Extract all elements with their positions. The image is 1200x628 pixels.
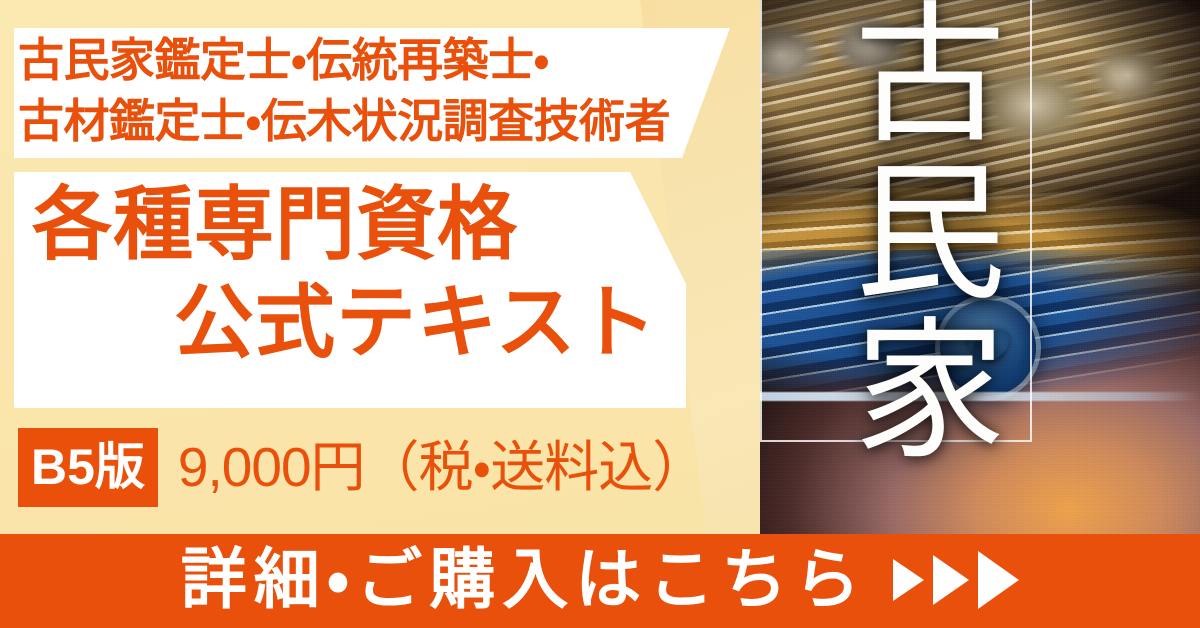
price-row: B5版 9,000円（税・送料込） [18,428,706,507]
promo-banner: 伝統構法 古民家活用のための調査と再生の 古民家 古民家鑑定士・伝統再築士・ 古… [0,0,1200,628]
cta-arrows [893,551,1019,609]
headline-line-1: 各種専門資格 [14,176,690,274]
headline-line-2: 公式テキスト [14,274,690,372]
chevron-right-icon-medium [933,555,969,605]
chevron-right-icon-large [978,551,1019,609]
price-text: 9,000円（税・送料込） [178,440,706,495]
cta-label: 詳細・ご購入はこちら [181,546,867,612]
cover-title: 古民家 [786,0,996,468]
cta-bar[interactable]: 詳細・ご購入はこちら [0,534,1200,628]
qualification-line-2: 古材鑑定士・伝木状況調査技術者 [18,91,728,152]
chevron-right-icon-small [893,559,924,601]
page-title: 各種専門資格 公式テキスト [14,176,690,371]
format-badge: B5版 [18,428,158,507]
qualifications-list: 古民家鑑定士・伝統再築士・ 古材鑑定士・伝木状況調査技術者 [18,30,728,152]
qualification-line-1: 古民家鑑定士・伝統再築士・ [18,30,728,91]
